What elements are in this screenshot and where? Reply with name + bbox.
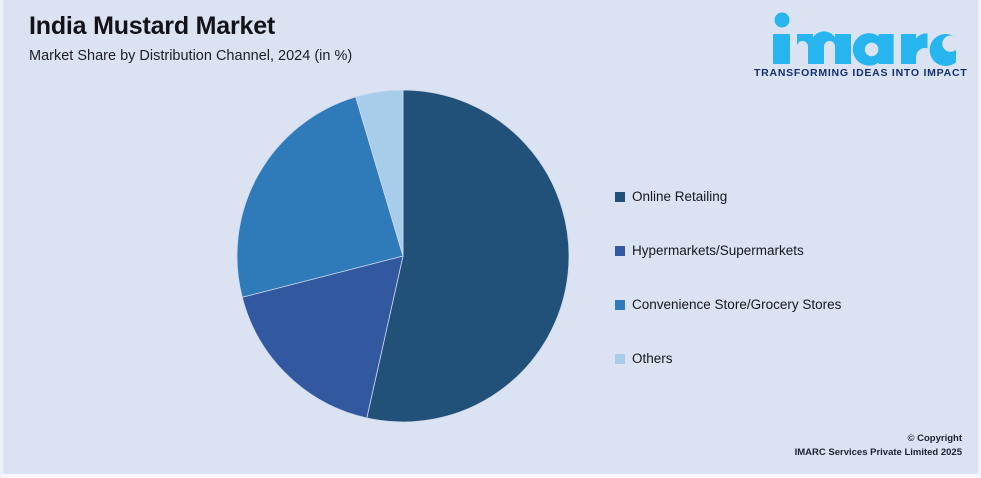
legend-swatch	[615, 300, 625, 310]
legend-item-hypermarkets-supermarkets[interactable]: Hypermarkets/Supermarkets	[615, 224, 945, 278]
copyright-line: © Copyright	[795, 432, 962, 447]
legend-item-others[interactable]: Others	[615, 332, 945, 386]
legend-item-label: Others	[632, 352, 673, 367]
pie-chart-svg	[234, 88, 572, 426]
legend-item-label: Hypermarkets/Supermarkets	[632, 244, 804, 259]
pie-chart	[234, 88, 572, 426]
infographic-canvas: India Mustard Market Market Share by Dis…	[0, 0, 981, 478]
legend-swatch	[615, 192, 625, 202]
chart-subtitle: Market Share by Distribution Channel, 20…	[29, 48, 649, 65]
legend-swatch	[615, 354, 625, 364]
legend-item-label: Online Retailing	[632, 190, 727, 205]
chart-legend: Online Retailing Hypermarkets/Supermarke…	[615, 170, 945, 386]
imarc-wordmark-icon	[759, 10, 959, 66]
legend-item-online-retailing[interactable]: Online Retailing	[615, 170, 945, 224]
legend-item-convenience-grocery-stores[interactable]: Convenience Store/Grocery Stores	[615, 278, 945, 332]
pie-slice-group	[237, 90, 569, 422]
copyright-footer: © Copyright IMARC Services Private Limit…	[795, 432, 962, 461]
page-title: India Mustard Market	[29, 12, 649, 41]
legend-swatch	[615, 246, 625, 256]
legend-item-label: Convenience Store/Grocery Stores	[632, 298, 841, 313]
imarc-logo: TRANSFORMING IDEAS INTO IMPACT	[754, 10, 964, 79]
logo-tagline: TRANSFORMING IDEAS INTO IMPACT	[754, 67, 964, 79]
chart-header: India Mustard Market Market Share by Dis…	[29, 12, 649, 65]
company-line: IMARC Services Private Limited 2025	[795, 446, 962, 461]
